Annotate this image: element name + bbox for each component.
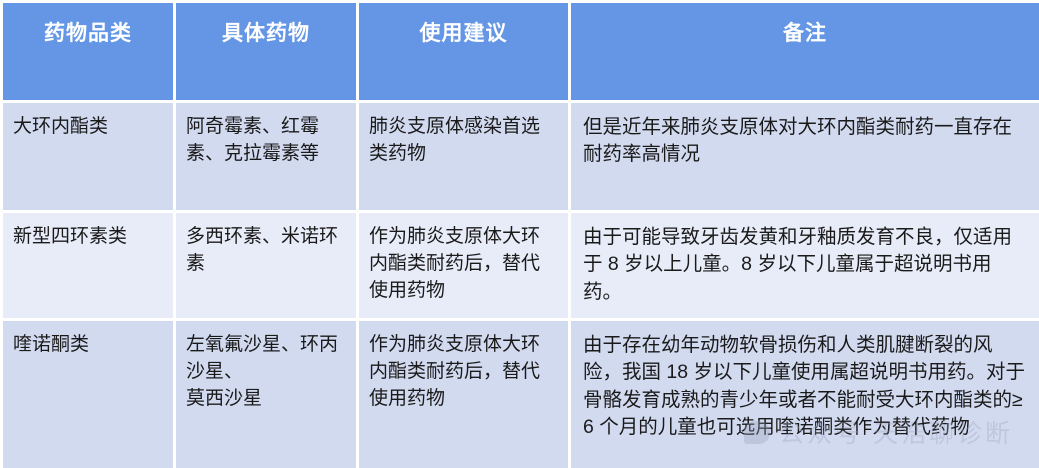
cell-category-text: 新型四环素类 [13, 224, 163, 251]
cell-drugs: 阿奇霉素、红霉素、克拉霉素等 [173, 100, 356, 210]
table-body: 大环内酯类 阿奇霉素、红霉素、克拉霉素等 肺炎支原体感染首选类药物 但是近年来肺… [0, 100, 1039, 468]
cell-usage: 作为肺炎支原体大环内酯类耐药后，替代使用药物 [356, 210, 568, 318]
column-header-usage: 使用建议 [356, 0, 568, 100]
cell-note-text: 但是近年来肺炎支原体对大环内酯类耐药一直存在耐药率高情况 [583, 114, 1029, 169]
cell-usage: 肺炎支原体感染首选类药物 [356, 100, 568, 210]
column-header-note: 备注 [568, 0, 1039, 100]
cell-drugs-text: 左氧氟沙星、环丙沙星、 莫西沙星 [186, 332, 346, 413]
cell-usage-text: 肺炎支原体感染首选类药物 [369, 114, 558, 168]
cell-category: 大环内酯类 [0, 100, 173, 210]
table-row: 新型四环素类 多西环素、米诺环素 作为肺炎支原体大环内酯类耐药后，替代使用药物 … [0, 210, 1039, 318]
cell-category: 喹诺酮类 [0, 318, 173, 468]
cell-usage-text: 作为肺炎支原体大环内酯类耐药后，替代使用药物 [369, 332, 558, 413]
cell-note: 由于存在幼年动物软骨损伤和人类肌腱断裂的风险，我国 18 岁以下儿童使用属超说明… [568, 318, 1039, 468]
cell-drugs-text: 阿奇霉素、红霉素、克拉霉素等 [186, 114, 346, 168]
cell-drugs: 左氧氟沙星、环丙沙星、 莫西沙星 [173, 318, 356, 468]
table-header: 药物品类 具体药物 使用建议 备注 [0, 0, 1039, 100]
cell-note: 由于可能导致牙齿发黄和牙釉质发育不良，仅适用于 8 岁以上儿童。8 岁以下儿童属… [568, 210, 1039, 318]
column-header-drugs: 具体药物 [173, 0, 356, 100]
cell-category: 新型四环素类 [0, 210, 173, 318]
cell-note-text: 由于存在幼年动物软骨损伤和人类肌腱断裂的风险，我国 18 岁以下儿童使用属超说明… [583, 332, 1029, 441]
cell-note: 但是近年来肺炎支原体对大环内酯类耐药一直存在耐药率高情况 [568, 100, 1039, 210]
cell-usage: 作为肺炎支原体大环内酯类耐药后，替代使用药物 [356, 318, 568, 468]
cell-category-text: 大环内酯类 [13, 114, 163, 141]
drug-comparison-table: 药物品类 具体药物 使用建议 备注 大环内酯类 阿奇霉素、红霉素、克拉霉素等 肺… [0, 0, 1039, 468]
table-row: 喹诺酮类 左氧氟沙星、环丙沙星、 莫西沙星 作为肺炎支原体大环内酯类耐药后，替代… [0, 318, 1039, 468]
column-header-category: 药物品类 [0, 0, 173, 100]
cell-category-text: 喹诺酮类 [13, 332, 163, 359]
table-header-row: 药物品类 具体药物 使用建议 备注 [0, 0, 1039, 100]
cell-note-text: 由于可能导致牙齿发黄和牙釉质发育不良，仅适用于 8 岁以上儿童。8 岁以下儿童属… [583, 224, 1029, 306]
cell-usage-text: 作为肺炎支原体大环内酯类耐药后，替代使用药物 [369, 224, 558, 305]
cell-drugs-text: 多西环素、米诺环素 [186, 224, 346, 278]
table-row: 大环内酯类 阿奇霉素、红霉素、克拉霉素等 肺炎支原体感染首选类药物 但是近年来肺… [0, 100, 1039, 210]
cell-drugs: 多西环素、米诺环素 [173, 210, 356, 318]
